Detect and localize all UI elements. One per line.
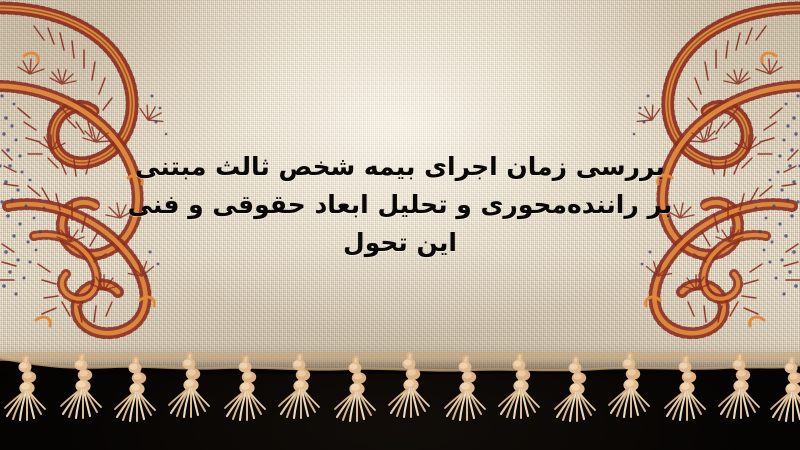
title-line-1: بررسی زمان اجرای بیمه شخص ثالث مبتنی	[0, 148, 800, 186]
slide-title: بررسی زمان اجرای بیمه شخص ثالث مبتنی بر …	[0, 148, 800, 262]
title-line-2: بر راننده‌محوری و تحلیل ابعاد حقوقی و فن…	[0, 186, 800, 224]
title-line-3: این تحول	[0, 224, 800, 262]
slide-canvas: بررسی زمان اجرای بیمه شخص ثالث مبتنی بر …	[0, 0, 800, 450]
